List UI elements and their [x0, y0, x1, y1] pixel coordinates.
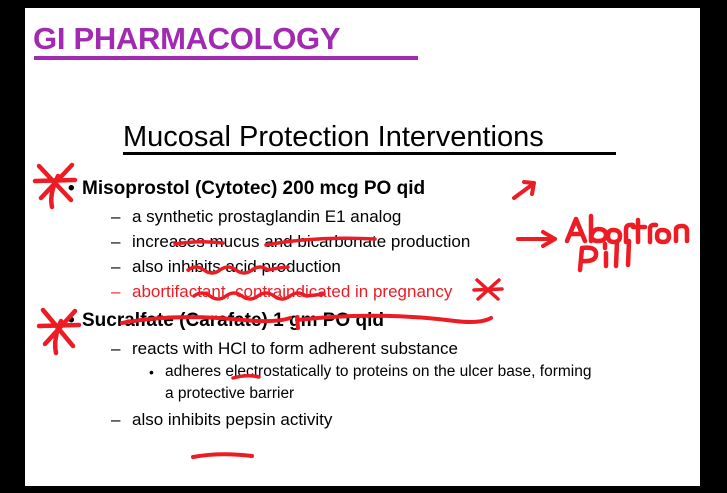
slide-subtitle: Mucosal Protection Interventions	[123, 121, 544, 154]
bullet-glyph: •	[68, 308, 75, 333]
slide-subtitle-text: Mucosal Protection Interventions	[123, 121, 544, 153]
outline-item-synthetic-prostaglandin: – a synthetic prostaglandin E1 analog	[25, 204, 700, 229]
outline-item-misoprostol: • Misoprostol (Cytotec) 200 mcg PO qid	[25, 176, 700, 201]
dash-glyph: –	[111, 229, 120, 254]
outline-item-text: reacts with HCl to form adherent substan…	[132, 339, 458, 358]
outline-item-text-line1: adheres electrostatically to proteins on…	[165, 361, 700, 383]
outline-item-reacts-with-hcl: – reacts with HCl to form adherent subst…	[25, 336, 700, 361]
bullet-glyph: •	[68, 176, 75, 201]
outline-item-inhibits-pepsin: – also inhibits pepsin activity	[25, 407, 700, 432]
outline-item-abortifactant: – abortifactant, contraindicated in preg…	[25, 279, 700, 304]
outline-item-adheres-electrostatically: • adheres electrostatically to proteins …	[25, 361, 700, 405]
dash-glyph: –	[111, 336, 120, 361]
dash-glyph: –	[111, 279, 120, 304]
outline-item-increases-mucus: – increases mucus and bicarbonate produc…	[25, 229, 700, 254]
outline-item-text: Misoprostol (Cytotec) 200 mcg PO qid	[82, 178, 425, 199]
slide-canvas: GI PHARMACOLOGY Mucosal Protection Inter…	[25, 8, 700, 486]
underline-pepsin	[193, 454, 252, 457]
outline-item-sucralfate: • Sucralfate (Carafate) 1 gm PO qid	[25, 308, 700, 333]
page-title-underline	[34, 56, 418, 60]
page-title: GI PHARMACOLOGY	[33, 21, 340, 57]
outline-item-text: also inhibits acid production	[132, 257, 341, 276]
dash-glyph: –	[111, 254, 120, 279]
outline-item-text-line2: a protective barrier	[165, 383, 700, 405]
dash-glyph: –	[111, 407, 120, 432]
slide-body-outline: • Misoprostol (Cytotec) 200 mcg PO qid –…	[25, 176, 700, 432]
dash-glyph: –	[111, 204, 120, 229]
bullet-glyph: •	[149, 361, 154, 383]
outline-item-text: increases mucus and bicarbonate producti…	[132, 232, 470, 251]
outline-item-text: abortifactant, contraindicated in pregna…	[132, 282, 452, 301]
slide-subtitle-underline	[123, 152, 616, 155]
outline-item-inhibits-acid: – also inhibits acid production	[25, 254, 700, 279]
outline-item-text: Sucralfate (Carafate) 1 gm PO qid	[82, 310, 384, 331]
outline-item-text: also inhibits pepsin activity	[132, 410, 332, 429]
slide-letterbox-frame: GI PHARMACOLOGY Mucosal Protection Inter…	[0, 0, 727, 493]
outline-item-text: a synthetic prostaglandin E1 analog	[132, 207, 401, 226]
page-title-text: GI PHARMACOLOGY	[33, 21, 340, 56]
